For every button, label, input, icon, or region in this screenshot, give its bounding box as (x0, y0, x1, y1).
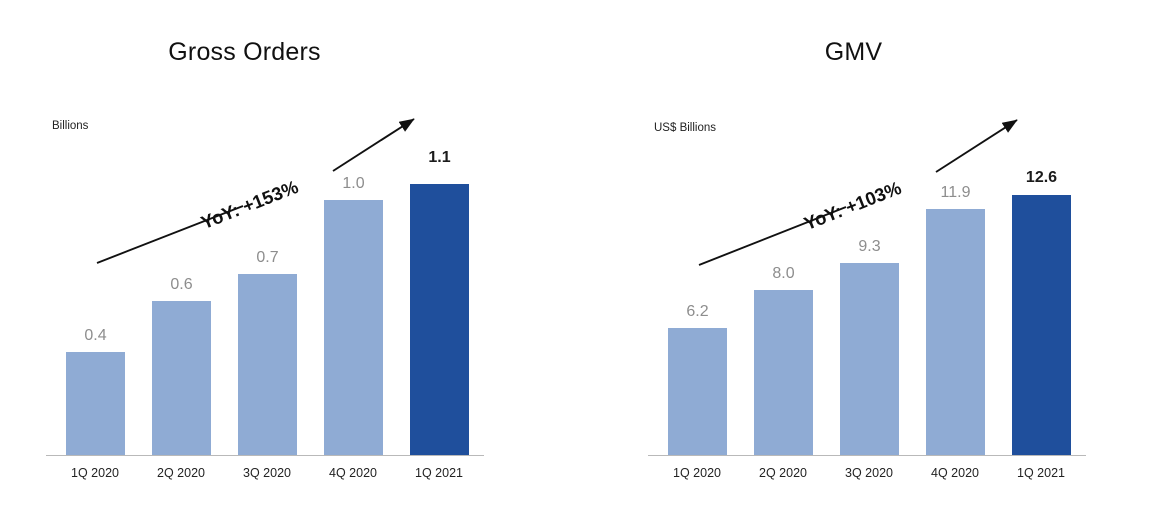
chart-panel-gmv: GMV US$ Billions 6.2 8.0 9.3 11.9 12.6 1… (574, 0, 1149, 515)
bar-value-label: 0.4 (84, 327, 106, 345)
bar-rect (152, 301, 211, 455)
yoy-annotation-left: YoY: +153% (198, 176, 302, 234)
bar-value-label: 6.2 (686, 303, 708, 321)
chart-panel-gross-orders: Gross Orders Billions 0.4 0.6 0.7 1.0 1.… (0, 0, 575, 515)
x-axis-line-left (46, 455, 484, 456)
bar-value-label: 12.6 (1026, 169, 1057, 187)
bar-value-label: 9.3 (858, 238, 880, 256)
plot-area-left: 0.4 0.6 0.7 1.0 1.1 1Q 2020 2Q 2020 3Q 2… (0, 0, 575, 515)
bar-rect (840, 263, 899, 455)
plot-area-right: 6.2 8.0 9.3 11.9 12.6 1Q 2020 2Q 2020 3Q… (574, 0, 1149, 515)
bar-rect (668, 328, 727, 455)
bar-value-label: 11.9 (941, 184, 971, 202)
bar-rect (926, 209, 985, 455)
bar-value-label: 8.0 (772, 265, 794, 283)
x-axis-line-right (648, 455, 1086, 456)
bar-value-label: 0.7 (256, 249, 278, 267)
bar-rect (754, 290, 813, 455)
yoy-annotation-right: YoY: +103% (801, 177, 905, 235)
bar-rect (66, 352, 125, 455)
bar-rect (238, 274, 297, 455)
bar-value-label: 1.1 (428, 149, 450, 167)
bar-value-label: 0.6 (170, 276, 192, 294)
x-tick-label-5: 1Q 2021 (986, 466, 1096, 480)
bar-value-label: 1.0 (342, 175, 364, 193)
bar-rect (410, 184, 469, 455)
x-tick-label-5: 1Q 2021 (384, 466, 494, 480)
bar-rect (1012, 195, 1071, 455)
bar-rect (324, 200, 383, 455)
